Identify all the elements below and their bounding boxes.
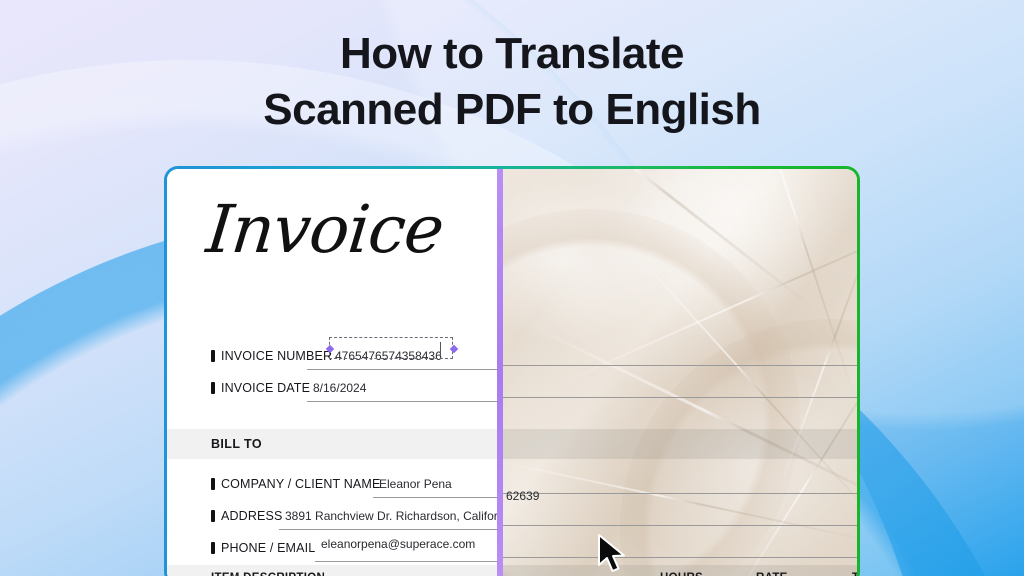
value-company[interactable]: Eleanor Pena [379, 477, 452, 491]
label-address: ADDRESS [221, 509, 282, 523]
before-after-slider-divider[interactable] [497, 169, 503, 576]
invoice-heading: Invoice [204, 197, 447, 263]
value-address[interactable]: 3891 Ranchview Dr. Richardson, Californi… [285, 509, 500, 523]
scanned-original-pane: 62639 HOURS RATE TOTAL [500, 169, 857, 576]
field-row-address: ADDRESS 3891 Ranchview Dr. Richardson, C… [167, 509, 500, 535]
rule-line-scan-5 [500, 557, 857, 558]
field-row-phone-email: PHONE / EMAIL eleanorpena@superace.com [167, 541, 500, 567]
table-header-hours-scanned: HOURS [660, 572, 703, 576]
bullet-icon [211, 478, 215, 490]
value-phone-email[interactable]: eleanorpena@superace.com [321, 537, 475, 551]
table-header-item-description: ITEM DESCRIPTION [211, 572, 325, 576]
field-row-company: COMPANY / CLIENT NAME Eleanor Pena [167, 477, 500, 503]
rule-line-company [373, 497, 500, 498]
rule-line-scan-1 [500, 365, 857, 366]
translated-document-pane: Invoice INVOICE NUMBER 4765476574358436 … [167, 169, 500, 576]
rule-line-scan-2 [500, 397, 857, 398]
rule-line-address [279, 529, 500, 530]
bill-to-label: BILL TO [211, 437, 262, 451]
rule-line-scan-3 [500, 493, 857, 494]
document-preview-inner: 62639 HOURS RATE TOTAL Invoice INVOICE N… [167, 169, 857, 576]
bullet-icon [211, 350, 215, 362]
bullet-icon [211, 542, 215, 554]
text-caret [440, 342, 441, 356]
page-title-line-1: How to Translate [340, 29, 684, 78]
bullet-icon [211, 510, 215, 522]
invoice-sheet: Invoice INVOICE NUMBER 4765476574358436 … [167, 169, 500, 576]
page-title: How to Translate Scanned PDF to English [0, 26, 1024, 138]
table-header-total-scanned: TOTAL [852, 572, 857, 576]
rule-line-invoice-number [307, 369, 500, 370]
label-company: COMPANY / CLIENT NAME [221, 477, 380, 491]
document-preview-frame: 62639 HOURS RATE TOTAL Invoice INVOICE N… [164, 166, 860, 576]
rule-line-scan-4 [500, 525, 857, 526]
label-phone-email: PHONE / EMAIL [221, 541, 315, 555]
field-row-invoice-date: INVOICE DATE 8/16/2024 [167, 381, 500, 407]
rule-line-phone-email [315, 561, 500, 562]
address-zip-scanned: 62639 [506, 489, 539, 503]
label-invoice-number: INVOICE NUMBER [221, 349, 332, 363]
rule-line-invoice-date [307, 401, 500, 402]
bullet-icon [211, 382, 215, 394]
table-header-rate-scanned: RATE [756, 572, 788, 576]
label-invoice-date: INVOICE DATE [221, 381, 310, 395]
value-invoice-date[interactable]: 8/16/2024 [313, 381, 366, 395]
page-title-line-2: Scanned PDF to English [0, 82, 1024, 138]
text-selection-box[interactable] [329, 337, 453, 359]
bill-to-band-scanned [500, 429, 857, 459]
